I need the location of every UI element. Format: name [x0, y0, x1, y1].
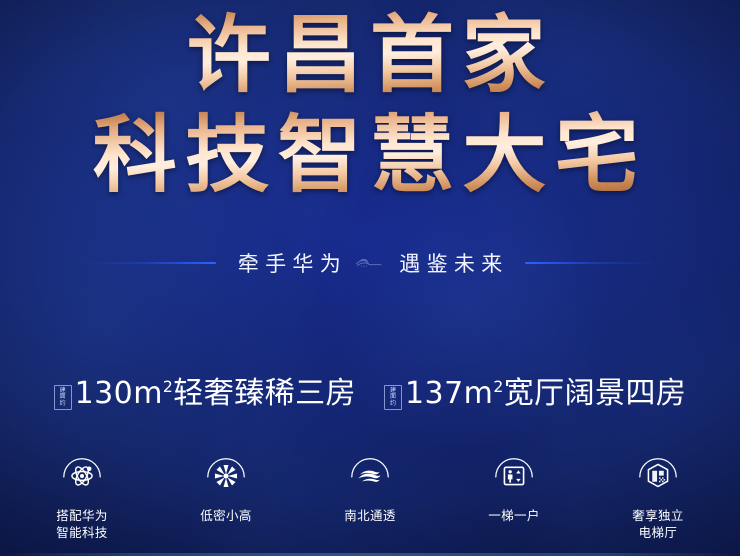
atom-icon [59, 452, 105, 498]
airflow-icon [347, 452, 393, 498]
spec-1-area-tag: 建 面 约 [54, 385, 72, 410]
feature-4-label: 一梯一户 [488, 507, 540, 524]
subtitle-rule-left [84, 262, 216, 264]
spec-2-tag-char-3: 约 [386, 401, 400, 407]
elevator-icon [491, 452, 537, 498]
promo-banner: 许昌首家 科技智慧大宅 牵手华为 遇鉴未来 [0, 0, 740, 556]
spec-1-tag-char-3: 约 [56, 401, 70, 407]
headline-line-2: 科技智慧大宅 [0, 108, 740, 202]
spec-2-unit: m [464, 376, 494, 411]
feature-item-5: 奢享独立 电梯厅 [610, 452, 706, 542]
spec-1-area: 130 [75, 376, 134, 411]
spec-2-area-tag: 建 面 约 [384, 385, 402, 410]
spec-1-text: 130m2轻奢臻稀三房 [75, 379, 356, 409]
headline-block: 许昌首家 科技智慧大宅 [0, 8, 740, 202]
feature-1-label: 搭配华为 智能科技 [56, 507, 108, 542]
subtitle-right-text: 遇鉴未来 [393, 248, 509, 278]
subtitle-text: 牵手华为 遇鉴未来 [232, 248, 509, 278]
lobby-icon [635, 452, 681, 498]
feature-item-3: 南北通透 [322, 452, 418, 524]
spec-2-text: 137m2宽厅阔景四房 [405, 379, 686, 409]
spec-item-1: 建 面 约 130m2轻奢臻稀三房 [54, 379, 356, 410]
subtitle-rule-right [525, 262, 657, 264]
headline-line-1: 许昌首家 [0, 8, 740, 102]
specs-row: 建 面 约 130m2轻奢臻稀三房 建 面 约 137m2宽厅阔景四房 [0, 379, 740, 410]
subtitle-left-text: 牵手华为 [232, 248, 348, 278]
huawei-flower-mark-icon [353, 256, 387, 270]
flower-icon [203, 452, 249, 498]
spec-2-superscript: 2 [493, 378, 503, 396]
feature-item-2: 低密小高 [178, 452, 274, 524]
feature-item-4: 一梯一户 [466, 452, 562, 524]
spec-2-description: 宽厅阔景四房 [504, 376, 687, 411]
feature-3-label: 南北通透 [344, 507, 396, 524]
spec-1-superscript: 2 [163, 378, 173, 396]
subtitle-row: 牵手华为 遇鉴未来 [0, 246, 740, 280]
feature-item-1: 搭配华为 智能科技 [34, 452, 130, 542]
spec-item-2: 建 面 约 137m2宽厅阔景四房 [384, 379, 686, 410]
feature-5-label: 奢享独立 电梯厅 [632, 507, 684, 542]
feature-2-label: 低密小高 [200, 507, 252, 524]
spec-2-area: 137 [405, 376, 464, 411]
spec-1-description: 轻奢臻稀三房 [173, 376, 356, 411]
spec-1-unit: m [133, 376, 163, 411]
features-row: 搭配华为 智能科技 [0, 452, 740, 542]
